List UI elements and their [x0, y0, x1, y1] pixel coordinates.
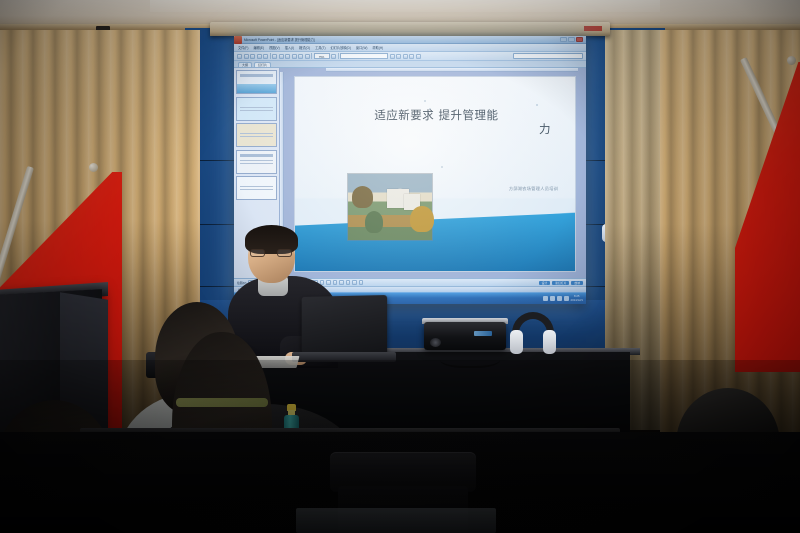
- slideshow-button[interactable]: 放映: [571, 281, 583, 285]
- active-slide[interactable]: 适应新要求 提升管理能 力 方邱湖农场管理人员培训: [294, 76, 576, 272]
- dash-style-icon[interactable]: [346, 280, 351, 285]
- volume-icon[interactable]: [550, 296, 555, 301]
- 3d-icon[interactable]: [359, 280, 364, 285]
- menu-item-format[interactable]: 格式(O): [299, 45, 310, 50]
- projector-indicator: [474, 331, 492, 336]
- glasses-icon: [250, 249, 292, 257]
- spellcheck-icon[interactable]: [272, 54, 277, 59]
- brand-logo: [584, 26, 602, 31]
- paste-icon[interactable]: [292, 54, 297, 59]
- italic-icon[interactable]: [396, 54, 401, 59]
- slide-wave-front: [295, 213, 575, 271]
- flag-finial: [787, 56, 796, 65]
- headphone-cup-right: [543, 330, 556, 354]
- system-tray[interactable]: 8:25 2014/12/1: [543, 295, 583, 302]
- preview-icon[interactable]: [263, 54, 268, 59]
- usb-icon[interactable]: [564, 296, 569, 301]
- projection-screen-housing: [210, 22, 610, 36]
- menu-item-tools[interactable]: 工具(T): [315, 45, 325, 50]
- slide-title-line2: 力: [312, 122, 561, 136]
- audience-2-collar: [176, 398, 268, 407]
- redo-icon[interactable]: [305, 54, 310, 59]
- new-icon[interactable]: [237, 54, 242, 59]
- slide-thumbnail-2[interactable]: [236, 97, 277, 121]
- window-title: Microsoft PowerPoint - [适应新要求 提升管理能力]: [244, 37, 315, 42]
- presentation-room-photo: Microsoft PowerPoint - [适应新要求 提升管理能力] 文件…: [0, 0, 800, 533]
- slide-thumbnail-5[interactable]: [236, 176, 277, 200]
- save-icon[interactable]: [250, 54, 255, 59]
- slide-title-line1: 适应新要求 提升管理能: [374, 108, 498, 122]
- network-icon[interactable]: [543, 296, 548, 301]
- print-icon[interactable]: [257, 54, 262, 59]
- underline-icon[interactable]: [403, 54, 408, 59]
- close-icon[interactable]: [576, 37, 583, 42]
- font-color-icon[interactable]: [333, 280, 338, 285]
- help-icon[interactable]: [331, 54, 336, 59]
- slide-view-buttons[interactable]: 设计 新幻灯片 放映: [539, 281, 583, 285]
- maximize-icon[interactable]: [568, 37, 575, 42]
- projector-lens-icon: [430, 338, 441, 347]
- search-input[interactable]: [513, 53, 583, 59]
- undo-icon[interactable]: [298, 54, 303, 59]
- menu-item-file[interactable]: 文件(F): [238, 45, 248, 50]
- laptop-keyboard: [292, 352, 396, 362]
- powerpoint-taskbar-icon[interactable]: [234, 36, 242, 44]
- projector: [424, 322, 506, 350]
- pane-tabs[interactable]: 大纲 幻灯片: [234, 61, 586, 68]
- menu-item-edit[interactable]: 编辑(E): [253, 45, 264, 50]
- cut-icon[interactable]: [279, 54, 284, 59]
- horizontal-ruler: [326, 68, 578, 72]
- new-slide-button[interactable]: 新幻灯片: [552, 281, 569, 285]
- slide-photo[interactable]: [348, 174, 432, 240]
- zoom-selector[interactable]: 75%: [314, 53, 330, 59]
- menu-item-slideshow[interactable]: 幻灯片放映(D): [331, 45, 351, 50]
- window-title-bar[interactable]: Microsoft PowerPoint - [适应新要求 提升管理能力]: [234, 36, 586, 44]
- minimize-icon[interactable]: [560, 37, 567, 42]
- slide-subtitle[interactable]: 方邱湖农场管理人员培训: [509, 186, 558, 192]
- font-selector[interactable]: [340, 53, 388, 59]
- laptop-screen: [302, 295, 387, 355]
- taskbar-clock[interactable]: 8:25 2014/12/1: [571, 295, 583, 302]
- copy-icon[interactable]: [285, 54, 290, 59]
- slide-thumbnail-4[interactable]: [236, 150, 277, 174]
- slide-thumbnail-1[interactable]: [236, 70, 277, 94]
- projector-cable: [440, 348, 500, 368]
- shield-icon[interactable]: [557, 296, 562, 301]
- menu-item-window[interactable]: 窗口(W): [356, 45, 368, 50]
- line-style-icon[interactable]: [339, 280, 344, 285]
- window-controls[interactable]: [560, 37, 583, 42]
- standard-toolbar[interactable]: 75%: [234, 52, 586, 61]
- design-button[interactable]: 设计: [539, 281, 551, 285]
- line-color-icon[interactable]: [326, 280, 331, 285]
- align-left-icon[interactable]: [409, 54, 414, 59]
- headphones: [512, 312, 554, 352]
- open-icon[interactable]: [244, 54, 249, 59]
- ceiling-panel: [150, 0, 660, 12]
- clock-date: 2014/12/1: [571, 298, 583, 302]
- slide-thumbnail-3[interactable]: [236, 123, 277, 147]
- slide-title[interactable]: 适应新要求 提升管理能 力: [312, 108, 561, 137]
- headphone-cup-left: [510, 330, 523, 354]
- tab-slides[interactable]: 幻灯片: [254, 62, 271, 67]
- slide-stage: 适应新要求 提升管理能 力 方邱湖农场管理人员培训: [280, 68, 586, 278]
- menu-item-help[interactable]: 帮助(H): [372, 45, 383, 50]
- lit-paper-surface: [296, 508, 496, 533]
- menu-item-insert[interactable]: 插入(I): [285, 45, 294, 50]
- bold-icon[interactable]: [390, 54, 395, 59]
- shadow-icon[interactable]: [352, 280, 357, 285]
- flag-finial: [89, 163, 98, 172]
- menu-bar[interactable]: 文件(F) 编辑(E) 视图(V) 插入(I) 格式(O) 工具(T) 幻灯片放…: [234, 44, 586, 52]
- menu-item-view[interactable]: 视图(V): [269, 45, 280, 50]
- tab-outline[interactable]: 大纲: [238, 62, 252, 67]
- align-center-icon[interactable]: [416, 54, 421, 59]
